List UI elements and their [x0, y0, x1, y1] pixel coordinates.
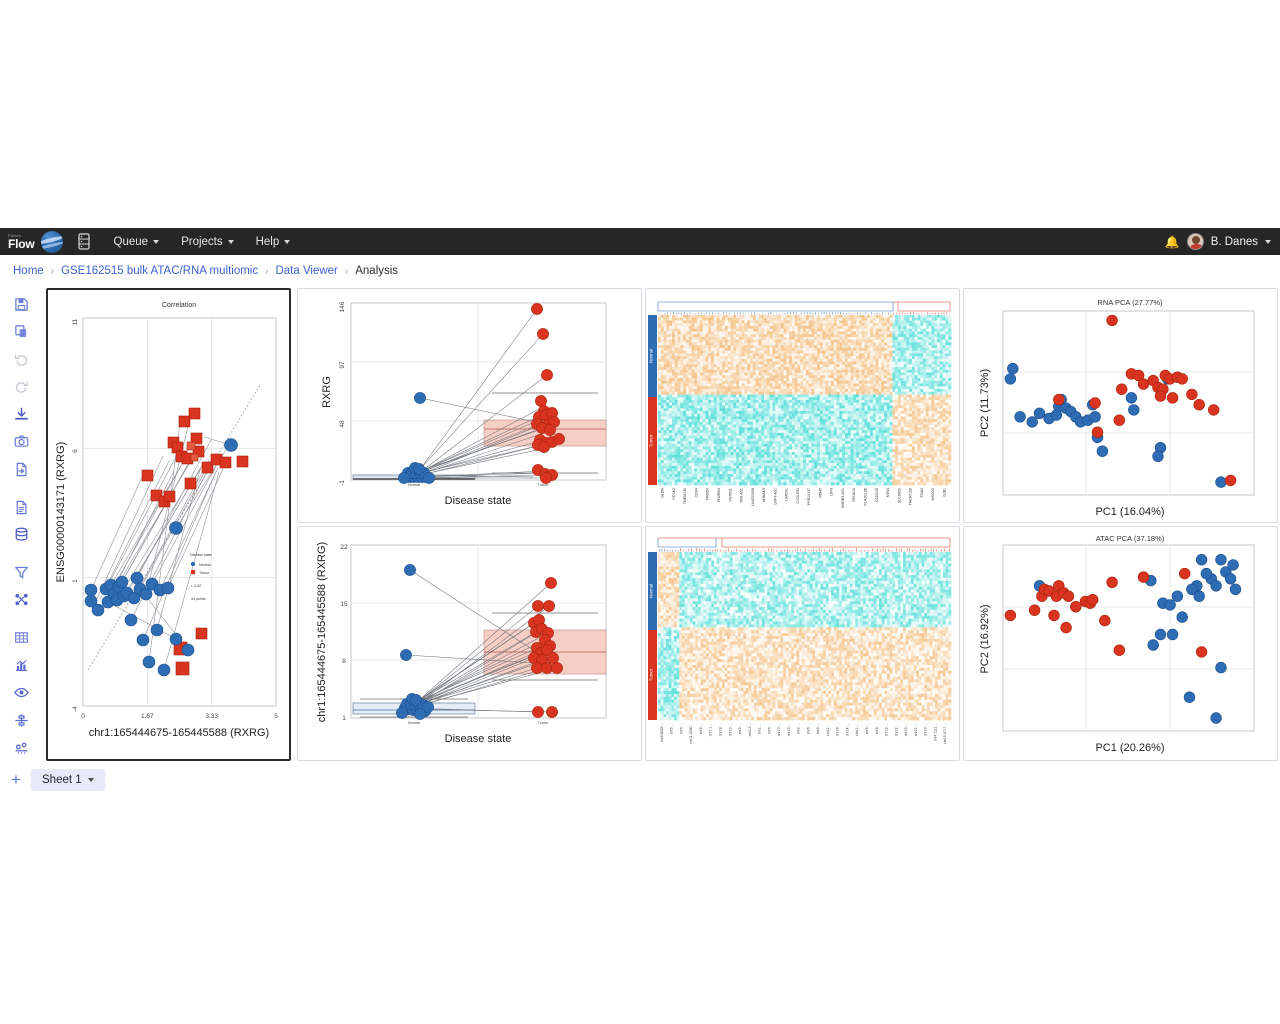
heatmap-column-label: chr18:… — [836, 723, 840, 737]
pca-point-normal[interactable] — [1148, 640, 1159, 651]
heatmap-column-label: chr18:… — [718, 723, 722, 737]
heatmap-column-label: chr1:1… — [709, 723, 713, 737]
pca-point-normal[interactable] — [1201, 568, 1212, 579]
heatmap-column-label: chr19:… — [924, 723, 928, 737]
breadcrumb-separator: › — [265, 266, 268, 277]
pca-point-normal[interactable] — [1228, 560, 1239, 571]
chevron-down-icon[interactable] — [1265, 240, 1271, 244]
heatmap-column-label: chr2:… — [738, 723, 742, 735]
heatmap-column-label: chr19:… — [904, 723, 908, 737]
chevron-down-icon — [153, 240, 159, 244]
nav-item-queue[interactable]: Queue — [103, 231, 171, 253]
pca-point-tumor[interactable] — [1116, 384, 1127, 395]
pca-point-tumor[interactable] — [1029, 605, 1040, 616]
svg-text:44 points: 44 points — [191, 597, 206, 601]
pca-point-tumor[interactable] — [1114, 415, 1125, 426]
pca-point-tumor[interactable] — [1107, 577, 1118, 588]
pca-point-normal[interactable] — [1126, 392, 1137, 403]
svg-text:Normal: Normal — [199, 563, 211, 567]
heatmap-column-label: CCDC33 — [875, 488, 879, 502]
heatmap-column-label: chr6:… — [806, 723, 810, 735]
pca-point-tumor[interactable] — [1053, 394, 1064, 405]
svg-text:11: 11 — [72, 318, 79, 325]
pca-point-tumor[interactable] — [1179, 568, 1190, 579]
pca-point-tumor[interactable] — [1087, 594, 1098, 605]
filter-icon[interactable] — [7, 559, 35, 585]
user-name-label: B. Danes — [1211, 236, 1258, 248]
pca-point-normal[interactable] — [1211, 580, 1222, 591]
heatmap-column-label: chr12:… — [894, 723, 898, 737]
chart-icon[interactable] — [7, 652, 35, 678]
heatmap-column-label: chr6:… — [816, 723, 820, 735]
heatmap-column-label: CYSLTR2 — [796, 488, 800, 504]
pca-point-normal[interactable] — [1155, 629, 1166, 640]
pca-point-normal[interactable] — [1153, 451, 1164, 462]
atac-heatmap[interactable]: Normal Tumor chr8:8223…chr6:…chr6:…chr11… — [646, 527, 959, 760]
database-icon[interactable] — [7, 521, 35, 547]
pca-point-tumor[interactable] — [1107, 315, 1118, 326]
pca-point-normal[interactable] — [1184, 692, 1195, 703]
plot-card-atac-heatmap[interactable]: Normal Tumor chr8:8223…chr6:…chr6:…chr11… — [645, 526, 960, 761]
breadcrumb-item-analysis: Analysis — [355, 265, 398, 277]
heatmap-column-label: chr4:1111… — [933, 723, 937, 742]
pca-point-normal[interactable] — [1194, 591, 1205, 602]
svg-text:ENSG00000143171 (RXRG): ENSG00000143171 (RXRG) — [55, 442, 67, 583]
plot-card-atac-pca[interactable]: ATAC PCA (37.18%) PC2 (16.92%) PC1 (20.2… — [963, 526, 1278, 761]
heatmap-column-label: LIPH — [830, 488, 834, 496]
pca-point-tumor[interactable] — [1090, 398, 1101, 409]
app-logo[interactable]: Partek Flow — [0, 231, 63, 253]
table-icon[interactable] — [7, 625, 35, 651]
bell-icon[interactable]: 🔔 — [1165, 235, 1180, 249]
brand-name-label: Flow — [8, 238, 35, 250]
heatmap-column-label: VSTM2L — [728, 488, 732, 502]
heatmap-column-label: chr19:… — [728, 723, 732, 737]
partek-wave-orb-icon — [41, 231, 63, 253]
svg-text:-4: -4 — [72, 706, 79, 712]
pca-point-tumor[interactable] — [1167, 392, 1178, 403]
svg-text:-1: -1 — [339, 480, 346, 486]
heatmap-column-label: TRIM54 — [706, 488, 710, 501]
heatmap-column-label: NTN4 — [886, 488, 890, 497]
svg-text:15: 15 — [340, 601, 348, 608]
svg-text:r: 0.92: r: 0.92 — [191, 584, 201, 588]
transform-icon[interactable] — [7, 587, 35, 613]
atac-pca[interactable]: ATAC PCA (37.18%) PC2 (16.92%) PC1 (20.2… — [964, 527, 1277, 760]
pca-point-normal[interactable] — [1165, 600, 1176, 611]
heatmap-column-label: chr2-2… — [748, 723, 752, 737]
navbar-right: 🔔 B. Danes — [1165, 233, 1280, 250]
heatmap-column-label: chr6:… — [699, 723, 703, 735]
pca-point-normal[interactable] — [1225, 573, 1236, 584]
heatmap-column-label: TMEM130 — [683, 488, 687, 504]
redo-icon — [7, 373, 35, 399]
pca-point-tumor[interactable] — [1092, 427, 1103, 438]
download-icon[interactable] — [7, 401, 35, 427]
sheet-tab-sheet-1[interactable]: Sheet 1 — [31, 769, 105, 791]
svg-text:48: 48 — [339, 420, 346, 428]
pca-point-tumor[interactable] — [1177, 374, 1188, 385]
heatmap-column-label: LIMCH1 — [785, 488, 789, 501]
heatmap-column-label: SLC6A20 — [897, 488, 901, 503]
heatmap-column-label: RDH5 — [818, 488, 822, 498]
svg-text:chr1:165444675-165445588 (RXRG: chr1:165444675-165445588 (RXRG) — [89, 727, 269, 739]
breadcrumb-item-project[interactable]: GSE162515 bulk ATAC/RNA multiomic — [61, 265, 258, 277]
plot-card-atac-peak-box[interactable]: 22 15 8 1 chr1:165444675-165445588 (RXRG… — [297, 526, 642, 761]
heatmap-column-label: PGA4 — [920, 488, 924, 497]
pca-point-tumor[interactable] — [1063, 591, 1074, 602]
svg-text:8: 8 — [342, 658, 346, 665]
pca-point-normal[interactable] — [1216, 662, 1227, 673]
svg-text:22: 22 — [340, 544, 348, 551]
heatmap-column-label: CCN4 — [694, 488, 698, 498]
svg-text:Tumor: Tumor — [649, 434, 654, 447]
nav-item-projects-label: Projects — [181, 236, 223, 248]
svg-text:Disease state: Disease state — [190, 553, 212, 557]
chevron-down-icon[interactable] — [88, 778, 94, 782]
pca-point-normal[interactable] — [1216, 554, 1227, 565]
svg-text:Tumor: Tumor — [538, 721, 550, 725]
heatmap-column-label: chr1:… — [758, 723, 762, 735]
heatmap-column-label: chr15:… — [787, 723, 791, 737]
nav-item-help-label: Help — [256, 236, 280, 248]
heatmap-column-label: WSCD2 — [931, 488, 935, 501]
breadcrumb-separator: › — [51, 266, 54, 277]
pca-point-normal[interactable] — [1128, 405, 1139, 416]
heatmap-column-label: chr11:1600… — [689, 723, 693, 744]
heatmap-column-label: PCSK2 — [672, 488, 676, 500]
pca-point-tumor[interactable] — [1138, 572, 1149, 583]
avatar[interactable] — [1187, 233, 1204, 250]
heatmap-column-label: chr6:… — [679, 723, 683, 735]
heatmap-column-label: LINC02498 — [751, 488, 755, 506]
svg-text:Normal: Normal — [408, 483, 420, 487]
heatmap-column-label: PRR15-DT — [807, 487, 811, 505]
heatmap-column-label: MSRB3-AS1 — [841, 488, 845, 508]
svg-text:1: 1 — [72, 579, 79, 583]
top-navbar: Partek Flow Queue Projects — [0, 228, 1280, 255]
svg-text:97: 97 — [339, 361, 346, 369]
heatmap-column-label: chr6:… — [767, 723, 771, 735]
svg-text:0: 0 — [81, 713, 85, 720]
pca-point-normal[interactable] — [1172, 591, 1183, 602]
breadcrumb: Home › GSE162515 bulk ATAC/RNA multiomic… — [0, 255, 1280, 287]
pca-point-tumor[interactable] — [1155, 391, 1166, 402]
save-icon[interactable] — [7, 291, 35, 317]
pca-point-tumor[interactable] — [1099, 615, 1110, 626]
analysis-icon[interactable] — [7, 734, 35, 760]
pca-point-normal[interactable] — [1051, 410, 1062, 421]
correlation-scatter[interactable]: Correlation 11 6 1 -4 0 1.67 3.33 5 — [48, 290, 289, 759]
heatmap-column-label: PDZRN4 — [717, 488, 721, 502]
pca-point-tumor[interactable] — [1114, 645, 1125, 656]
svg-text:Disease state: Disease state — [445, 495, 512, 507]
heatmap-column-label: GJB1 — [942, 488, 946, 497]
rxrg-paired-box[interactable]: 146 97 48 -1 RXRG Normal Tumor Disease s… — [298, 289, 641, 522]
heatmap-column-label: EPHA10 — [852, 488, 856, 501]
chevron-down-icon — [228, 240, 234, 244]
add-sheet-button[interactable]: + — [5, 769, 27, 791]
pca-point-tumor[interactable] — [1196, 647, 1207, 658]
pca-point-normal[interactable] — [1230, 584, 1241, 595]
duplicate-icon[interactable] — [7, 318, 35, 344]
heatmap-column-label: chr11:… — [826, 723, 830, 736]
eye-icon[interactable] — [7, 680, 35, 706]
rna-pca[interactable]: RNA PCA (27.77%) PC2 (11.73%) PC1 (16.04… — [964, 289, 1277, 522]
camera-icon[interactable] — [7, 428, 35, 454]
app-root: Partek Flow Queue Projects — [0, 0, 1280, 1024]
pca-point-normal[interactable] — [1167, 629, 1178, 640]
breadcrumb-item-data-viewer[interactable]: Data Viewer — [275, 265, 337, 277]
heatmap-column-label: chr19:4717… — [943, 723, 947, 745]
plot-card-rna-pca[interactable]: RNA PCA (27.77%) PC2 (11.73%) PC1 (16.04… — [963, 288, 1278, 523]
heatmap-column-label: chr11:… — [855, 723, 859, 736]
heatmap-column-label: chr8:8223… — [660, 723, 664, 743]
nav-item-queue-label: Queue — [114, 236, 149, 248]
heatmap-column-label: chr21:… — [914, 723, 918, 737]
pca-point-tumor[interactable] — [1061, 622, 1072, 633]
pca-point-tumor[interactable] — [1049, 610, 1060, 621]
svg-text:1.67: 1.67 — [141, 713, 154, 720]
pca-point-normal[interactable] — [1196, 554, 1207, 565]
pca-point-normal[interactable] — [1007, 363, 1018, 374]
plot-card-rxrg-box[interactable]: 146 97 48 -1 RXRG Normal Tumor Disease s… — [297, 288, 642, 523]
pca-point-normal[interactable] — [1097, 446, 1108, 457]
plot-card-rna-heatmap[interactable]: Normal Tumor GLDNPCSK2TMEM130CCN4TRIM54P… — [645, 288, 960, 523]
svg-text:5: 5 — [274, 713, 278, 720]
crosshair-icon[interactable] — [7, 707, 35, 733]
svg-text:chr1:165444675-165445588 (RXRG: chr1:165444675-165445588 (RXRG) — [316, 542, 328, 722]
document-icon[interactable] — [7, 494, 35, 520]
nav-item-help[interactable]: Help — [245, 231, 302, 253]
pca-point-tumor[interactable] — [1194, 399, 1205, 410]
pca-point-normal[interactable] — [1015, 411, 1026, 422]
svg-text:3.33: 3.33 — [205, 713, 218, 720]
pca-point-tumor[interactable] — [1187, 389, 1198, 400]
heatmap-column-label: LRP4-AS1 — [773, 488, 777, 505]
nav-item-projects[interactable]: Projects — [170, 231, 245, 253]
svg-text:1: 1 — [342, 715, 346, 722]
pca-point-normal[interactable] — [1027, 417, 1038, 428]
atac-peak-paired-box[interactable]: 22 15 8 1 chr1:165444675-165445588 (RXRG… — [298, 527, 641, 760]
plot-canvas: Correlation 11 6 1 -4 0 1.67 3.33 5 — [42, 287, 1280, 762]
pca-point-tumor[interactable] — [1225, 475, 1236, 486]
brand-wordmark: Partek Flow — [8, 234, 35, 250]
heatmap-column-label: GLDN — [661, 488, 665, 498]
heatmap-column-label: TRD-AS1 — [740, 488, 744, 503]
svg-text:Normal: Normal — [408, 721, 420, 725]
pca-point-tumor[interactable] — [1138, 379, 1149, 390]
pca-point-normal[interactable] — [1090, 411, 1101, 422]
undo-icon — [7, 346, 35, 372]
heatmap-column-label: chr12:… — [885, 723, 889, 737]
svg-text:6: 6 — [72, 449, 79, 453]
heatmap-column-label: chr6:… — [670, 723, 674, 735]
svg-text:RXRG: RXRG — [321, 376, 333, 408]
heatmap-column-label: chr6:… — [875, 723, 879, 735]
pca-point-normal[interactable] — [1177, 612, 1188, 623]
sheet-bar: + Sheet 1 — [0, 766, 1280, 794]
pca-point-normal[interactable] — [1034, 408, 1045, 419]
svg-text:Disease state: Disease state — [445, 733, 512, 745]
heatmap-column-label: THCAT158 — [909, 488, 913, 505]
plot-card-correlation[interactable]: Correlation 11 6 1 -4 0 1.67 3.33 5 — [46, 288, 291, 761]
breadcrumb-separator: › — [345, 266, 348, 277]
rna-heatmap[interactable]: Normal Tumor GLDNPCSK2TMEM130CCN4TRIM54P… — [646, 289, 959, 522]
export-file-icon[interactable] — [7, 456, 35, 482]
pca-point-normal[interactable] — [1005, 374, 1016, 385]
pca-point-normal[interactable] — [1216, 477, 1227, 488]
pca-point-tumor[interactable] — [1070, 601, 1081, 612]
tool-rail — [0, 287, 42, 762]
pca-point-tumor[interactable] — [1208, 405, 1219, 416]
pca-point-normal[interactable] — [1211, 713, 1222, 724]
heatmap-column-label: chr14:… — [845, 723, 849, 737]
svg-text:Correlation: Correlation — [162, 302, 196, 309]
svg-text:146: 146 — [339, 301, 346, 312]
server-icon[interactable] — [77, 233, 91, 250]
heatmap-column-label: AHNAK3 — [762, 488, 766, 502]
breadcrumb-item-home[interactable]: Home — [13, 265, 44, 277]
nav-menu: Queue Projects Help — [103, 231, 302, 253]
sheet-tab-label: Sheet 1 — [42, 774, 82, 786]
heatmap-column-label: chr5:… — [865, 723, 869, 735]
svg-text:Tumor: Tumor — [199, 571, 210, 575]
pca-point-tumor[interactable] — [1005, 610, 1016, 621]
svg-text:Normal: Normal — [649, 349, 654, 363]
chevron-down-icon — [284, 240, 290, 244]
heatmap-column-label: chr19:… — [777, 723, 781, 737]
heatmap-column-label: PLA2G12B — [863, 487, 867, 505]
heatmap-column-label: chr2:… — [797, 723, 801, 735]
